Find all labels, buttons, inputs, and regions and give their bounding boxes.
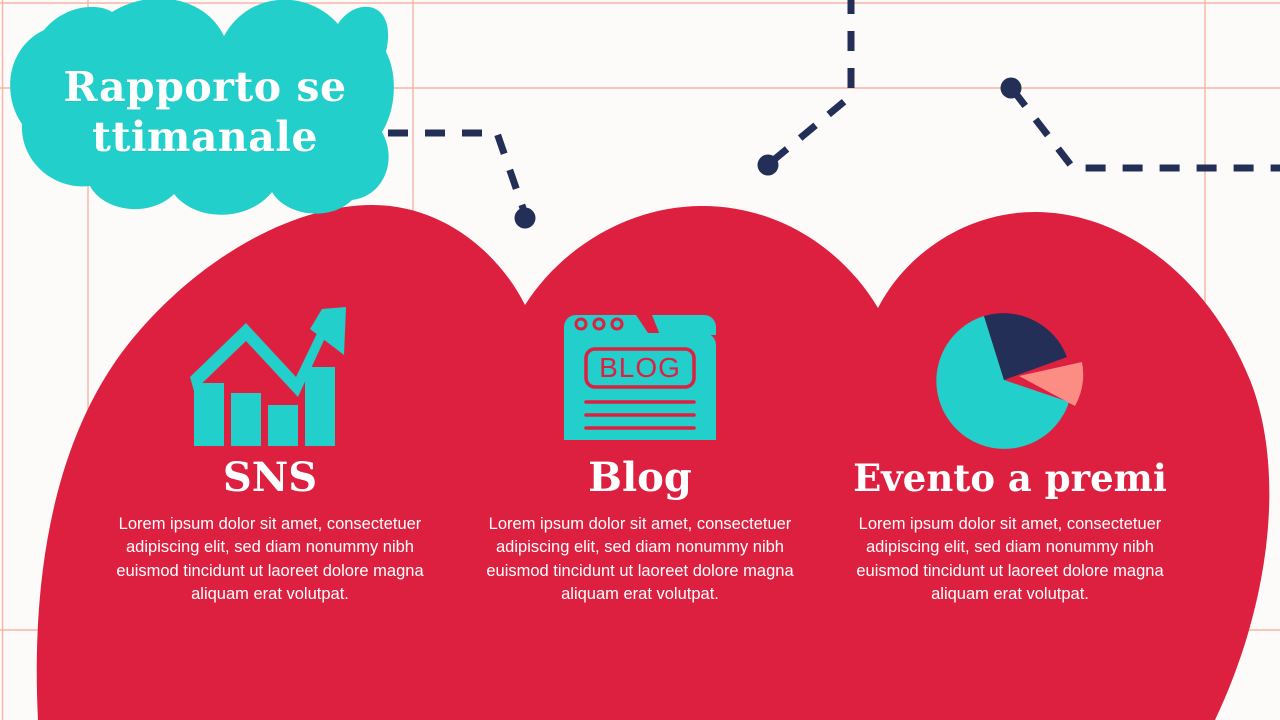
page-title-line-1: Rapporto se [40,62,370,112]
slide-canvas: Rapporto se ttimanale SNS Lorem ip [0,0,1280,720]
page-title-line-2: ttimanale [40,112,370,162]
card-title-blog: Blog [455,455,825,501]
card-blog[interactable]: BLOG Blog Lorem ipsum dolor sit amet, co… [455,300,825,607]
pie-chart-icon [936,305,1084,450]
growth-chart-icon [190,305,350,450]
browser-window-icon: BLOG [564,315,716,440]
page-title: Rapporto se ttimanale [40,62,370,162]
card-evento[interactable]: Evento a premi Lorem ipsum dolor sit ame… [825,300,1195,607]
browser-icon-label: BLOG [599,352,681,383]
card-title-sns: SNS [85,455,455,501]
card-body-blog: Lorem ipsum dolor sit amet, consectetuer… [481,513,799,607]
card-title-evento: Evento a premi [825,455,1195,501]
growth-chart-icon-wrap [85,300,455,455]
card-sns[interactable]: SNS Lorem ipsum dolor sit amet, consecte… [85,300,455,607]
card-body-evento: Lorem ipsum dolor sit amet, consectetuer… [851,513,1169,607]
card-body-sns: Lorem ipsum dolor sit amet, consectetuer… [111,513,429,607]
pie-chart-icon-wrap [825,300,1195,455]
browser-window-icon-wrap: BLOG [455,300,825,455]
